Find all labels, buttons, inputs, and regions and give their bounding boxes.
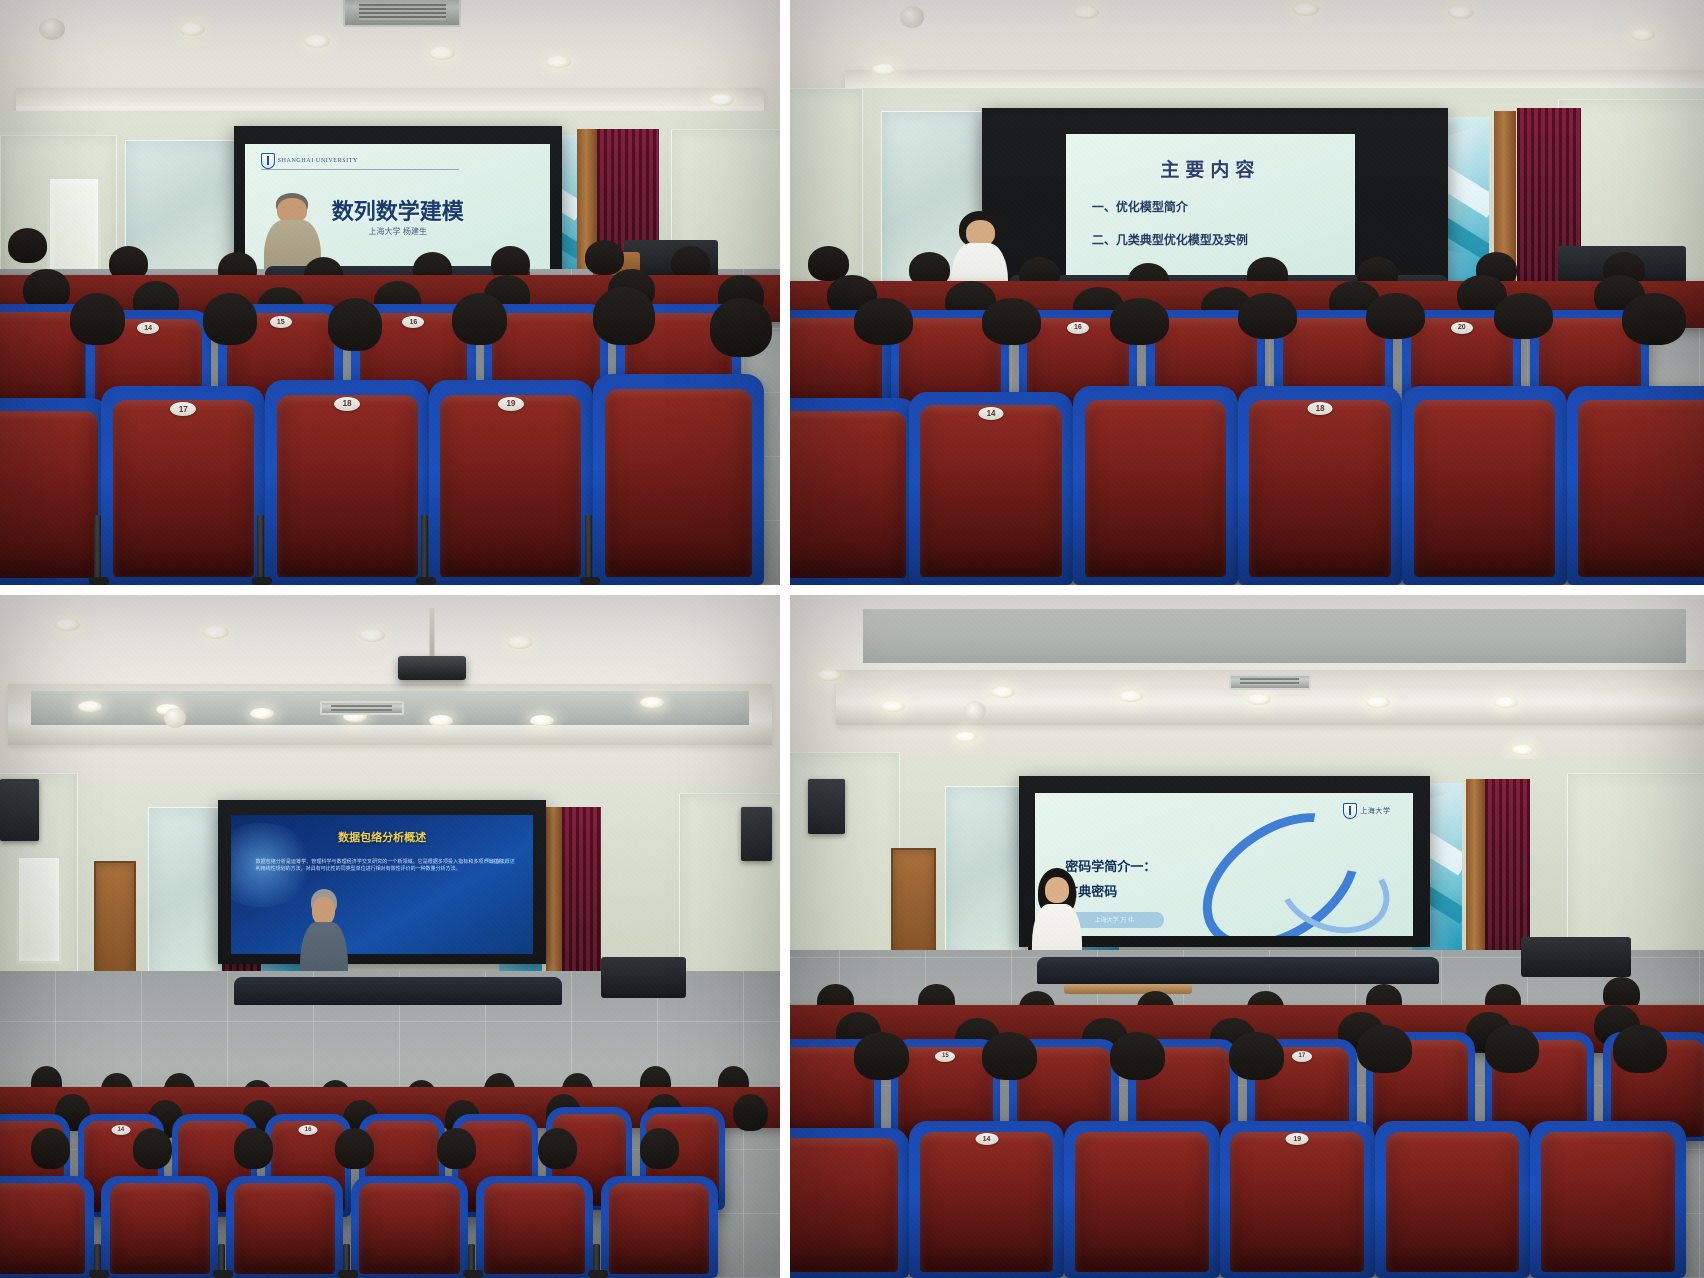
shanghai-university-mark	[261, 153, 275, 169]
downlight-icon	[1293, 3, 1319, 16]
seat-cushion	[234, 1183, 335, 1274]
audience-head	[70, 293, 125, 346]
seat[interactable]	[1064, 1121, 1219, 1278]
seat[interactable]	[0, 398, 109, 585]
downlight-icon	[250, 708, 274, 719]
seat-cushion	[1541, 1132, 1675, 1272]
seat-cushion	[113, 400, 254, 577]
presentation-slide: 数据包络分析概述 数据包络分析是运筹学、管理科学与数理经济学交叉研究的一个新领域…	[231, 815, 532, 954]
seat-number-badge: 14	[111, 1125, 130, 1135]
downlight-icon	[55, 619, 80, 631]
wall-speaker	[0, 779, 39, 840]
audience-head	[1613, 1025, 1668, 1073]
seat-number-badge: 14	[137, 322, 159, 334]
seat[interactable]	[226, 1176, 343, 1278]
seat[interactable]	[1402, 386, 1567, 585]
audience-head	[8, 228, 47, 263]
stage-curtain-right	[562, 807, 601, 998]
university-logo: 上海大学	[1343, 803, 1390, 819]
downlight-icon	[429, 715, 453, 726]
wall-glass-panel	[945, 786, 1027, 977]
window	[16, 855, 63, 964]
seat-cushion	[790, 411, 906, 578]
slide-bullet-1: 一、优化模型简介	[1092, 198, 1188, 215]
seat-cushion	[1414, 400, 1555, 577]
seat-cushion	[920, 405, 1061, 577]
seat[interactable]	[601, 1176, 718, 1278]
seat-number-badge: 16	[299, 1125, 318, 1135]
seat-cushion	[440, 395, 581, 577]
seat-number-badge: 18	[1308, 402, 1333, 415]
university-logo-text: 上海大学	[1360, 806, 1390, 816]
presenter-table	[1064, 984, 1192, 994]
downlight-icon	[1247, 694, 1271, 705]
seat-cushion	[1386, 1132, 1520, 1272]
air-conditioner-vent	[343, 0, 461, 27]
projection-screen-frame: 数据包络分析概述 数据包络分析是运筹学、管理科学与数理经济学交叉研究的一个新领域…	[218, 800, 546, 964]
seat-leg	[343, 1244, 350, 1278]
audience-head	[585, 240, 624, 275]
photo-panel-top-left: SHANGHAI UNIVERSITY 数列数学建模 上海大学 杨建生	[0, 0, 780, 585]
audience-head	[328, 298, 383, 351]
front-seat-row	[1037, 957, 1439, 984]
downlight-icon	[78, 701, 102, 712]
seat-cushion	[920, 1132, 1054, 1272]
audience-head	[710, 298, 772, 357]
photo-panel-bottom-right: 上海大学 密码学简介一： 古典密码 上海大学 万 伟	[790, 595, 1704, 1278]
presentation-slide: 上海大学 密码学简介一： 古典密码 上海大学 万 伟	[1035, 793, 1413, 936]
downlight-icon	[507, 636, 533, 649]
seat-cushion	[1230, 1132, 1364, 1272]
av-console	[601, 957, 687, 998]
seat-cushion	[277, 395, 418, 577]
audience-head	[982, 1032, 1037, 1080]
audience-head	[1238, 293, 1297, 340]
seat[interactable]	[0, 1176, 94, 1278]
slide-heading: 主要内容	[1066, 155, 1355, 182]
seat[interactable]: 18	[1238, 386, 1403, 585]
seat-leg	[218, 1244, 225, 1278]
seat-number-badge: 14	[979, 407, 1004, 420]
smoke-detector-icon	[964, 701, 986, 721]
seat-cushion	[0, 1183, 85, 1274]
seat-leg	[585, 515, 592, 585]
downlight-icon	[955, 732, 977, 742]
seat-cushion	[110, 1183, 211, 1274]
downlight-icon	[710, 94, 734, 106]
lecture-hall-room: 主要内容 一、优化模型简介 二、几类典型优化模型及实例	[790, 0, 1704, 585]
seat-number-badge: 18	[334, 397, 360, 411]
seat[interactable]	[593, 374, 765, 585]
audience-head	[1229, 1032, 1284, 1080]
seat-leg	[468, 1244, 475, 1278]
seat-leg	[94, 1244, 101, 1278]
audience-head	[982, 298, 1041, 345]
downlight-icon	[1448, 6, 1474, 19]
lecture-hall-room: SHANGHAI UNIVERSITY 数列数学建模 上海大学 杨建生	[0, 0, 780, 585]
slide-body-text: 数据包络分析是运筹学、管理科学与数理经济学交叉研究的一个新领域。它是根据多项投入…	[256, 859, 509, 874]
seat[interactable]	[1567, 386, 1704, 585]
seat[interactable]	[1073, 386, 1238, 585]
audience-head	[733, 1094, 768, 1132]
audience-head	[234, 1128, 273, 1169]
seat-number-badge: 17	[1292, 1051, 1312, 1062]
downlight-icon	[530, 715, 554, 726]
audience-head	[133, 1128, 172, 1169]
audience-head	[593, 287, 655, 346]
seat[interactable]	[790, 398, 918, 585]
downlight-icon	[359, 629, 385, 642]
seat-number-badge: 19	[1286, 1133, 1309, 1145]
presentation-slide: 主要内容 一、优化模型简介 二、几类典型优化模型及实例	[1066, 134, 1355, 282]
seat-cushion	[1578, 400, 1704, 577]
audience-head	[1622, 293, 1686, 346]
audience-head	[854, 298, 913, 345]
seat-number-badge: 15	[935, 1051, 955, 1062]
presenter-head	[277, 198, 306, 222]
seat-number-badge: 16	[1067, 322, 1089, 334]
seat-number-badge: 17	[170, 402, 196, 416]
front-seat-row	[234, 977, 562, 1004]
seat-cushion	[605, 389, 753, 576]
audience-head	[437, 1128, 476, 1169]
soffit-reflective-band	[863, 609, 1686, 664]
seat-cushion	[0, 411, 98, 578]
lecture-hall-room-wide: 数据包络分析概述 数据包络分析是运筹学、管理科学与数理经济学交叉研究的一个新领域…	[0, 595, 780, 1278]
seat-number-badge: 19	[498, 397, 524, 411]
seat-cushion	[609, 1183, 710, 1274]
shanghai-university-mark	[1343, 803, 1357, 819]
audience-head	[452, 293, 507, 346]
seat-number-badge: 15	[270, 316, 292, 328]
seat[interactable]	[101, 1176, 218, 1278]
lecture-hall-room: 上海大学 密码学简介一： 古典密码 上海大学 万 伟	[790, 595, 1704, 1278]
seat-cushion	[484, 1183, 585, 1274]
seat[interactable]: 19	[429, 380, 593, 585]
audience-head	[538, 1128, 577, 1169]
seat-leg	[94, 515, 101, 585]
presenter-head	[1045, 877, 1069, 903]
seat[interactable]	[1530, 1121, 1685, 1278]
seat-number-badge: 16	[402, 316, 424, 328]
slide-divider	[261, 169, 459, 170]
presenter-head	[966, 220, 995, 245]
seat-leg	[257, 515, 264, 585]
seat-cushion	[790, 1138, 898, 1272]
audience-head	[335, 1128, 374, 1169]
seat[interactable]: 14	[909, 1121, 1064, 1278]
smoke-detector-icon	[39, 18, 65, 40]
seat-number-badge: 20	[1451, 322, 1473, 334]
wood-column	[546, 807, 562, 998]
audience-head	[854, 1032, 909, 1080]
seat-cushion	[1085, 400, 1226, 577]
seat[interactable]	[476, 1176, 593, 1278]
downlight-icon	[546, 56, 571, 68]
university-logo: SHANGHAI UNIVERSITY	[261, 153, 358, 169]
audience-head	[203, 293, 258, 346]
presenter-head	[312, 897, 335, 925]
audience-head	[1485, 1025, 1540, 1073]
photo-panel-top-right: 主要内容 一、优化模型简介 二、几类典型优化模型及实例	[790, 0, 1704, 585]
slide-title: 数据包络分析概述	[231, 829, 532, 845]
seat[interactable]	[790, 1128, 909, 1278]
slide-bullet-2: 二、几类典型优化模型及实例	[1092, 231, 1248, 248]
seat[interactable]: 14	[909, 392, 1074, 585]
seat[interactable]	[1375, 1121, 1530, 1278]
downlight-icon	[1073, 6, 1099, 19]
av-console	[1521, 937, 1631, 978]
air-conditioner-vent	[320, 701, 404, 715]
downlight-icon	[1119, 691, 1143, 702]
audience-head	[1366, 293, 1425, 340]
smoke-detector-icon	[900, 6, 924, 28]
seat-cushion	[1249, 400, 1390, 577]
audience-head	[640, 1128, 679, 1169]
seat[interactable]	[351, 1176, 468, 1278]
seat[interactable]: 18	[265, 380, 429, 585]
audience-head	[31, 1128, 70, 1169]
downlight-icon	[429, 47, 455, 60]
audience-head	[1494, 293, 1553, 340]
seat-leg	[593, 1244, 600, 1278]
photo-panel-bottom-left: 数据包络分析概述 数据包络分析是运筹学、管理科学与数理经济学交叉研究的一个新领域…	[0, 595, 780, 1278]
smoke-detector-icon	[164, 708, 186, 728]
audience-head	[1110, 1032, 1165, 1080]
seat-cushion	[1075, 1132, 1209, 1272]
downlight-icon	[881, 701, 905, 712]
wall-speaker	[741, 807, 772, 862]
photo-collage: SHANGHAI UNIVERSITY 数列数学建模 上海大学 杨建生	[0, 0, 1704, 1278]
seat-cushion	[359, 1183, 460, 1274]
slide-tag: 评价方法概述	[485, 858, 515, 865]
downlight-icon	[203, 626, 229, 639]
air-conditioner-vent	[1229, 674, 1311, 690]
seat-number-badge: 14	[975, 1133, 998, 1145]
ceiling-projector	[398, 656, 466, 680]
audience-head	[1357, 1025, 1412, 1073]
audience-head	[1110, 298, 1169, 345]
seat-leg	[421, 515, 428, 585]
university-logo-text: SHANGHAI UNIVERSITY	[278, 158, 358, 164]
wall-speaker	[808, 779, 845, 834]
seat[interactable]: 17	[101, 386, 265, 585]
seat[interactable]: 19	[1220, 1121, 1375, 1278]
